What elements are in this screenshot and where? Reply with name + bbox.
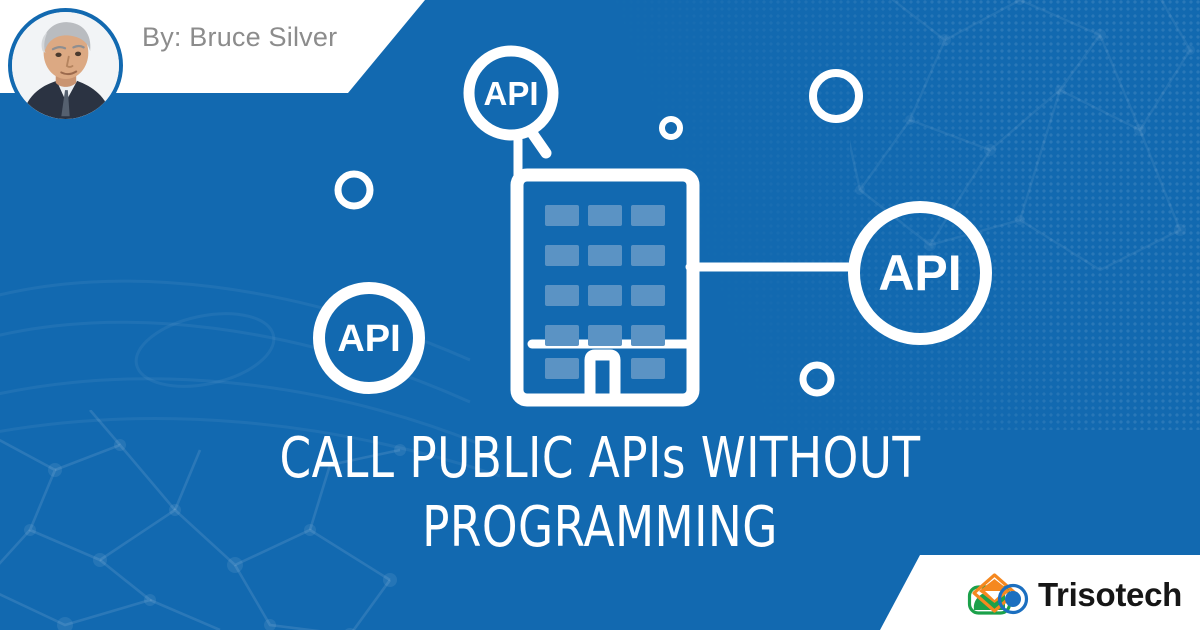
page-title-line-1: CALL PUBLIC APIs WITHOUT [60,424,1140,493]
decorative-circle-2 [662,119,680,137]
api-magnifier-left: API [319,288,419,388]
building-door [590,355,615,400]
avatar-portrait-icon [12,12,119,119]
page-title-line-2: PROGRAMMING [60,493,1140,562]
decorative-circle-1 [338,174,370,206]
api-illustration: API API API [280,20,1000,420]
api-magnifier-left-label: API [337,318,400,360]
brand-name: Trisotech [1038,578,1182,611]
api-circle-right-label: API [878,245,961,301]
decorative-circle-3 [813,73,859,119]
office-building-icon [517,175,693,400]
page-title: CALL PUBLIC APIs WITHOUT PROGRAMMING [60,424,1140,562]
brand-logo[interactable]: Trisotech [967,572,1182,616]
blog-banner: By: Bruce Silver [0,0,1200,630]
api-circle-right: API [854,207,986,339]
api-magnifier-top: API [469,51,553,153]
trisotech-logo-icon [967,572,1029,616]
avatar [8,8,123,123]
decorative-circle-4 [803,365,831,393]
api-magnifier-top-label: API [483,75,538,112]
